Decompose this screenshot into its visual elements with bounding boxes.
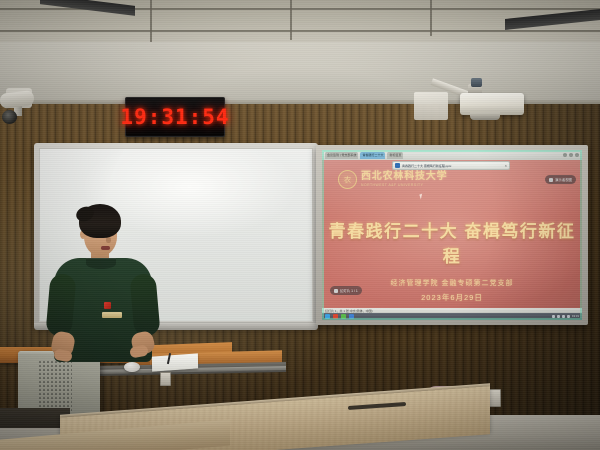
browser-tab-2[interactable]: 新标签页 <box>387 152 403 159</box>
led-wall-clock: 19:31:54 <box>125 97 225 137</box>
slide-counter-label: 幻灯片 1 / 1 <box>340 288 358 293</box>
university-logo: 农 西北农林科技大学 NORTHWEST A&F UNIVERSITY <box>338 170 447 189</box>
presenter-view-label: 演示者视图 <box>555 177 572 182</box>
download-notification-bar[interactable]: 青春践行二十大 奋楫笃行新征程.pptx × <box>392 161 510 170</box>
presenter-view-overlay[interactable]: 演示者视图 <box>545 175 576 184</box>
browser-tab-0[interactable]: 会议签到 | 党支部系统 <box>325 152 358 159</box>
chevron-up-icon[interactable] <box>552 315 555 318</box>
slide-title: 青春践行二十大 奋楫笃行新征程 <box>322 217 582 267</box>
window-minimize-icon[interactable] <box>563 153 567 157</box>
window-close-icon[interactable] <box>575 153 579 157</box>
camera-lens-icon <box>2 110 17 124</box>
ceiling-grid-line <box>150 0 152 44</box>
mail-icon[interactable] <box>333 314 338 319</box>
clock-time: 19:31:54 <box>120 105 229 129</box>
name-tag <box>102 312 122 318</box>
university-name-en: NORTHWEST A&F UNIVERSITY <box>361 183 447 187</box>
browser-icon[interactable] <box>341 314 346 319</box>
network-icon[interactable] <box>557 315 560 318</box>
close-icon[interactable]: × <box>505 163 507 168</box>
presentation-slide: 农 西北农林科技大学 NORTHWEST A&F UNIVERSITY 青春践行… <box>322 160 582 308</box>
classroom-photo: 19:31:54 会议签到 | 党支部系统 青春践行二十大 新标签页 农 西北农… <box>0 0 600 450</box>
presenter-sleeve-right <box>129 273 160 337</box>
ceiling-grid-line <box>430 0 432 36</box>
start-icon[interactable] <box>325 314 330 319</box>
taskbar-clock[interactable]: 19:31 <box>572 315 579 318</box>
presenter-nose <box>106 237 111 243</box>
projector-sensor-icon <box>471 78 482 87</box>
ceiling-grid-line <box>290 0 292 40</box>
shield-icon[interactable] <box>562 315 565 318</box>
lectern-perforated-panel <box>38 360 72 412</box>
system-tray[interactable]: 19:31 <box>552 315 579 318</box>
party-pin-icon <box>104 302 111 309</box>
slide-counter-icon <box>334 289 338 293</box>
slide-organization: 经济管理学院 金融专硕第二党支部 <box>322 278 582 288</box>
university-name-cn: 西北农林科技大学 <box>361 172 447 183</box>
slide-counter-overlay[interactable]: 幻灯片 1 / 1 <box>330 286 362 295</box>
download-filename: 青春践行二十大 奋楫笃行新征程.pptx <box>402 164 451 168</box>
volume-icon[interactable] <box>567 315 570 318</box>
file-icon <box>395 163 400 168</box>
browser-tab-1[interactable]: 青春践行二十大 <box>360 152 385 159</box>
presenter-view-icon <box>549 178 553 182</box>
presenter-mouth <box>101 246 110 250</box>
slide-date: 2023年6月29日 <box>322 292 582 303</box>
ceiling-grid-line <box>0 30 600 32</box>
display-screen[interactable]: 会议签到 | 党支部系统 青春践行二十大 新标签页 农 西北农林科技大学 NOR… <box>322 150 582 320</box>
wall-outlet[interactable] <box>160 372 171 386</box>
university-seal-icon: 农 <box>338 170 357 189</box>
folder-icon[interactable] <box>349 314 354 319</box>
presenter <box>46 204 166 364</box>
window-maximize-icon[interactable] <box>569 153 573 157</box>
presenter-collar <box>86 258 116 269</box>
browser-chrome: 会议签到 | 党支部系统 青春践行二十大 新标签页 <box>322 150 582 160</box>
projector-wall-plate <box>414 92 448 120</box>
windows-taskbar[interactable]: 19:31 <box>322 313 582 320</box>
projector-lens-icon <box>470 112 500 120</box>
